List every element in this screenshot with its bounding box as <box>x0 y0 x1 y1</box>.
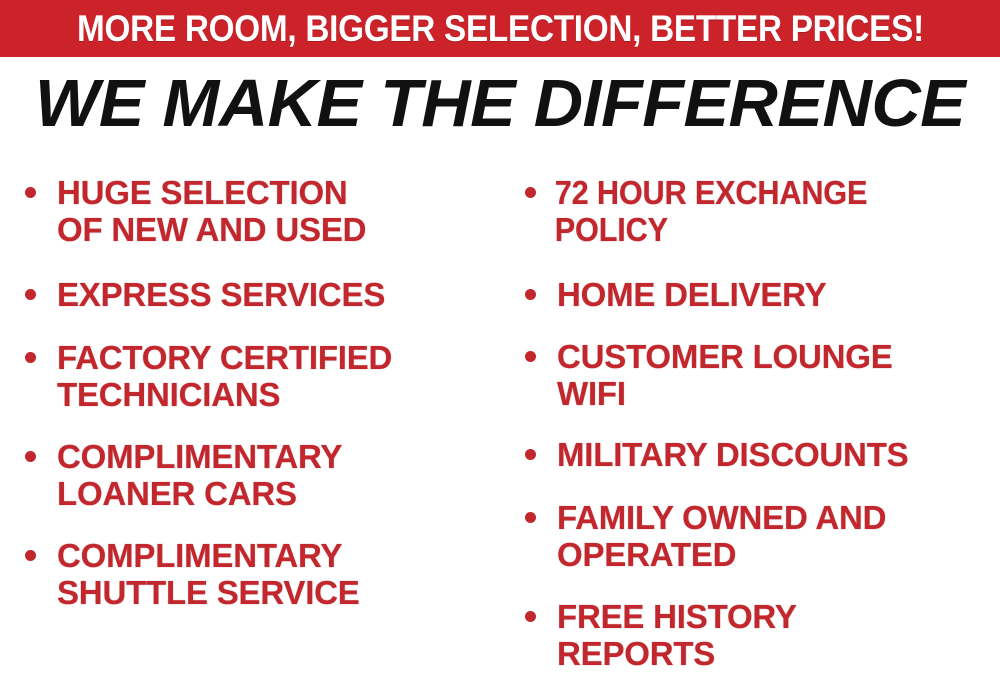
list-item: MILITARY DISCOUNTS <box>525 436 1000 473</box>
list-item-label: FAMILY OWNED AND OPERATED <box>525 499 1000 573</box>
list-item: COMPLIMENTARY LOANER CARS <box>25 438 495 512</box>
list-item-label: HUGE SELECTION OF NEW AND USED <box>25 174 495 248</box>
list-item: FAMILY OWNED AND OPERATED <box>525 499 1000 573</box>
bullet-dot-icon <box>25 451 36 462</box>
list-item: 72 HOUR EXCHANGE POLICY <box>525 174 1000 248</box>
list-item: FREE HISTORY REPORTS <box>525 598 1000 672</box>
list-item-label: EXPRESS SERVICES <box>25 276 495 313</box>
bullet-dot-icon <box>25 187 36 198</box>
list-item-label: COMPLIMENTARY LOANER CARS <box>25 438 495 512</box>
list-item-label: MILITARY DISCOUNTS <box>525 436 1000 473</box>
promo-banner: MORE ROOM, BIGGER SELECTION, BETTER PRIC… <box>0 0 1000 57</box>
promo-banner-text: MORE ROOM, BIGGER SELECTION, BETTER PRIC… <box>77 10 924 47</box>
list-item-label: FREE HISTORY REPORTS <box>525 598 1000 672</box>
bullet-dot-icon <box>25 352 36 363</box>
features-lists: HUGE SELECTION OF NEW AND USED EXPRESS S… <box>0 160 1000 694</box>
bullet-dot-icon <box>525 449 536 460</box>
list-item-label: COMPLIMENTARY SHUTTLE SERVICE <box>25 537 495 611</box>
list-item: HUGE SELECTION OF NEW AND USED <box>25 174 495 248</box>
page-title: WE MAKE THE DIFFERENCE <box>0 70 1000 137</box>
list-item-label: HOME DELIVERY <box>525 276 1000 313</box>
page-title-text: WE MAKE THE DIFFERENCE <box>35 70 965 137</box>
bullet-dot-icon <box>525 289 536 300</box>
features-column-right: 72 HOUR EXCHANGE POLICY HOME DELIVERY CU… <box>508 160 1000 694</box>
bullet-dot-icon <box>25 289 36 300</box>
list-item: CUSTOMER LOUNGE WIFI <box>525 338 1000 412</box>
list-item: EXPRESS SERVICES <box>25 276 495 313</box>
features-column-left: HUGE SELECTION OF NEW AND USED EXPRESS S… <box>8 160 508 694</box>
list-item-label: FACTORY CERTIFIED TECHNICIANS <box>25 339 495 413</box>
bullet-dot-icon <box>25 550 36 561</box>
list-item: COMPLIMENTARY SHUTTLE SERVICE <box>25 537 495 611</box>
bullet-dot-icon <box>525 512 536 523</box>
list-item: HOME DELIVERY <box>525 276 1000 313</box>
list-item: FACTORY CERTIFIED TECHNICIANS <box>25 339 495 413</box>
list-item-label: CUSTOMER LOUNGE WIFI <box>525 338 1000 412</box>
bullet-dot-icon <box>525 351 536 362</box>
list-item-label: 72 HOUR EXCHANGE POLICY <box>525 174 867 248</box>
bullet-dot-icon <box>525 611 536 622</box>
